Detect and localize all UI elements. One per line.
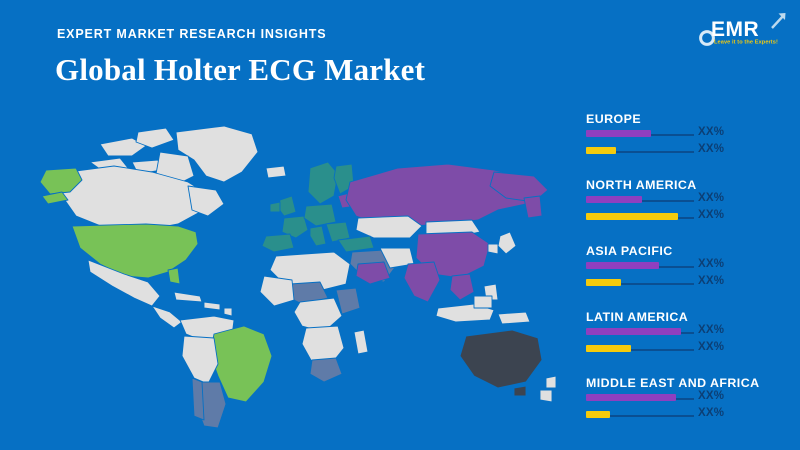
legend-bar-value: XX% xyxy=(698,258,724,270)
legend-bar-row: XX% xyxy=(586,342,792,359)
legend-bar-row: XX% xyxy=(586,259,792,276)
legend-group: ASIA PACIFICXX%XX% xyxy=(586,244,792,293)
country-central-america xyxy=(152,306,182,328)
country-uk xyxy=(278,196,296,216)
legend-bar-fill-yellow xyxy=(586,279,621,286)
country-spain-portugal xyxy=(262,234,294,252)
legend-region-label: EUROPE xyxy=(586,112,792,127)
legend-group: EUROPEXX%XX% xyxy=(586,112,792,161)
country-new-zealand xyxy=(546,376,556,388)
legend-region-label: MIDDLE EAST AND AFRICA xyxy=(586,376,792,391)
country-russia-kamchatka xyxy=(524,196,542,218)
legend-bar-value: XX% xyxy=(698,126,724,138)
legend-bar-row: XX% xyxy=(586,144,792,161)
legend-bar-row: XX% xyxy=(586,408,792,425)
country-australia xyxy=(460,330,542,388)
country-madagascar xyxy=(354,330,368,354)
country-us-florida xyxy=(168,268,180,284)
country-caribbean-isles xyxy=(224,308,232,316)
legend-bar-row: XX% xyxy=(586,193,792,210)
legend-region-label: ASIA PACIFIC xyxy=(586,244,792,259)
legend-bar-value: XX% xyxy=(698,192,724,204)
legend-bar-value: XX% xyxy=(698,275,724,287)
legend-bar-value: XX% xyxy=(698,209,724,221)
country-japan xyxy=(498,232,516,254)
page-title: Global Holter ECG Market xyxy=(55,52,425,88)
country-peru-bolivia xyxy=(182,336,218,384)
svg-text:EMR: EMR xyxy=(711,18,759,41)
infographic-canvas: EXPERT MARKET RESEARCH INSIGHTS Global H… xyxy=(0,0,800,450)
legend-bar-fill-purple xyxy=(586,262,659,269)
legend-bar-fill-yellow xyxy=(586,213,678,220)
legend-bar-value: XX% xyxy=(698,324,724,336)
legend-group: MIDDLE EAST AND AFRICAXX%XX% xyxy=(586,376,792,425)
country-new-zealand-south xyxy=(540,390,552,402)
legend-bar-fill-purple xyxy=(586,328,681,335)
country-chile-strip xyxy=(192,378,204,420)
legend-group: NORTH AMERICAXX%XX% xyxy=(586,178,792,227)
legend-bar-value: XX% xyxy=(698,407,724,419)
country-korea xyxy=(488,244,498,254)
country-india xyxy=(404,262,440,302)
country-norway-sweden xyxy=(308,162,338,204)
country-iceland xyxy=(266,166,286,178)
legend-bar-value: XX% xyxy=(698,390,724,402)
legend-bar-fill-purple xyxy=(586,196,642,203)
legend-region-label: NORTH AMERICA xyxy=(586,178,792,193)
eyebrow-label: EXPERT MARKET RESEARCH INSIGHTS xyxy=(57,27,326,41)
legend-region-label: LATIN AMERICA xyxy=(586,310,792,325)
legend-bar-value: XX% xyxy=(698,341,724,353)
emr-logo-mark: EMR Leave it to the Experts! xyxy=(692,6,790,52)
country-kazakhstan xyxy=(356,216,422,238)
legend-bar-row: XX% xyxy=(586,276,792,293)
country-borneo xyxy=(474,296,492,308)
country-cuba xyxy=(174,292,202,302)
country-germany-poland xyxy=(304,204,336,226)
country-southeast-asia xyxy=(450,274,474,300)
legend-bar-row: XX% xyxy=(586,391,792,408)
country-tasmania xyxy=(514,386,526,396)
legend-bar-fill-purple xyxy=(586,394,676,401)
country-west-africa xyxy=(260,276,294,306)
legend-bar-fill-yellow xyxy=(586,345,631,352)
emr-logo[interactable]: EMR Leave it to the Experts! xyxy=(692,6,790,52)
legend-bar-row: XX% xyxy=(586,127,792,144)
world-map xyxy=(28,120,558,430)
legend-bar-fill-purple xyxy=(586,130,651,137)
country-italy xyxy=(310,226,326,246)
legend-bar-fill-yellow xyxy=(586,411,610,418)
legend-bar-fill-yellow xyxy=(586,147,616,154)
legend-group: LATIN AMERICAXX%XX% xyxy=(586,310,792,359)
legend-bar-value: XX% xyxy=(698,143,724,155)
country-south-africa xyxy=(310,358,342,382)
country-hispaniola xyxy=(204,302,220,310)
legend-bar-row: XX% xyxy=(586,210,792,227)
svg-text:Leave it to the Experts!: Leave it to the Experts! xyxy=(714,40,778,46)
country-ireland xyxy=(270,202,280,212)
region-legend: EUROPEXX%XX%NORTH AMERICAXX%XX%ASIA PACI… xyxy=(586,112,792,422)
legend-bar-row: XX% xyxy=(586,325,792,342)
country-new-guinea xyxy=(498,312,530,324)
